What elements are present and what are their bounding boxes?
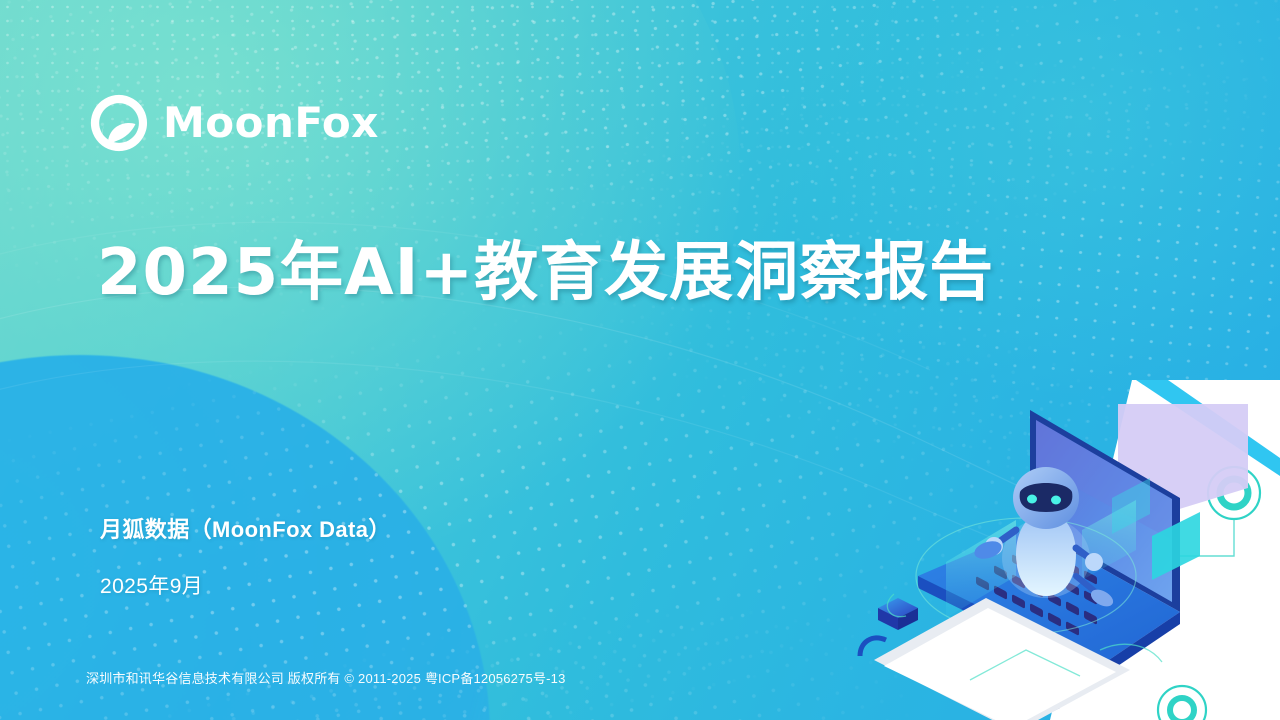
brand-wordmark: MoonFox <box>163 102 379 144</box>
publication-date: 2025年9月 <box>100 570 391 600</box>
teal-glow-top-right <box>760 0 1280 400</box>
moonfox-crescent-logo-icon <box>88 92 150 154</box>
subtitle-block: 月狐数据（MoonFox Data） 2025年9月 <box>100 512 391 600</box>
copyright-footer: 深圳市和讯华谷信息技术有限公司 版权所有 © 2011-2025 粤ICP备12… <box>86 668 566 687</box>
organization-name: 月狐数据（MoonFox Data） <box>100 512 391 544</box>
page-title: 2025年AI+教育发展洞察报告 <box>97 236 994 312</box>
isometric-laptop-robot-illustration <box>850 380 1280 720</box>
report-cover-slide: MoonFox 2025年AI+教育发展洞察报告 月狐数据（MoonFox Da… <box>0 0 1280 720</box>
brand-logo: MoonFox <box>88 92 379 154</box>
